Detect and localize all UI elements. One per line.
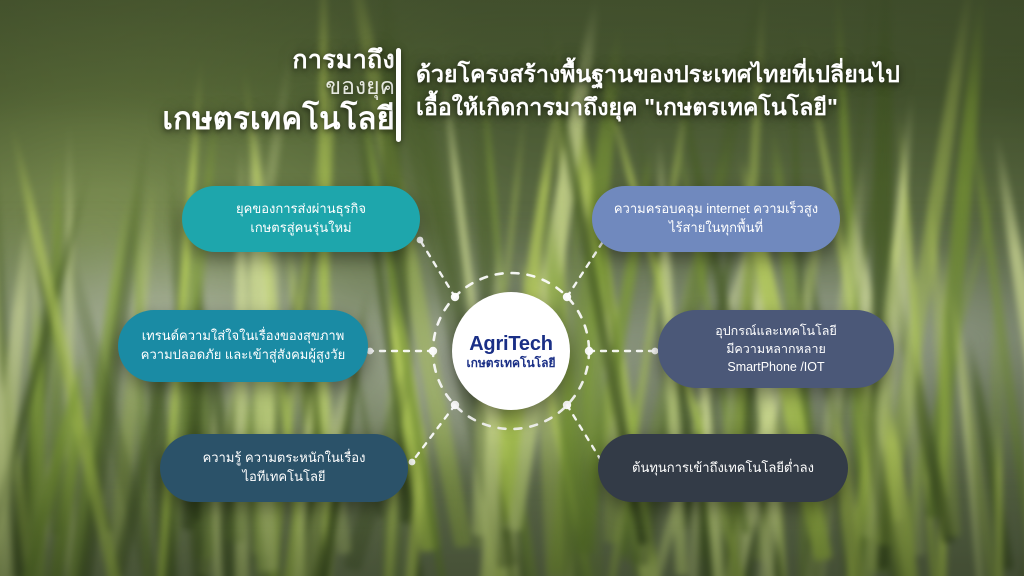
node-line: ไร้สายในทุกพื้นที่ [614,219,818,238]
ring-dot-middle-right [585,347,593,355]
radial-diagram: AgriTech เกษตรเทคโนโลยี ยุคของการส่งผ่าน… [0,0,1024,576]
node-top-right[interactable]: ความครอบคลุม internet ความเร็วสูง ไร้สาย… [592,186,840,252]
node-line: ความปลอดภัย และเข้าสู่สังคมผู้สูงวัย [141,346,345,365]
node-line: เกษตรสู่คนรุ่นใหม่ [236,219,366,238]
node-line: อุปกรณ์และเทคโนโลยี [715,322,837,340]
connector-bottom-right [567,405,602,462]
node-middle-right[interactable]: อุปกรณ์และเทคโนโลยี มีความหลากหลาย Smart… [658,310,894,388]
node-line: มีความหลากหลาย [715,340,837,358]
node-middle-left[interactable]: เทรนด์ความใส่ใจในเรื่องของสุขภาพ ความปลอ… [118,310,368,382]
node-bottom-right-text: ต้นทุนการเข้าถึงเทคโนโลยีต่ำลง [632,459,814,478]
node-line: ไอทีเทคโนโลยี [203,468,366,487]
node-top-left[interactable]: ยุคของการส่งผ่านธุรกิจ เกษตรสู่คนรุ่นใหม… [182,186,420,252]
infographic-slide: การมาถึง ของยุค เกษตรเทคโนโลยี ด้วยโครงส… [0,0,1024,576]
ring-dot-middle-left [429,347,437,355]
node-bottom-right[interactable]: ต้นทุนการเข้าถึงเทคโนโลยีต่ำลง [598,434,848,502]
connector-bottom-left [412,405,455,462]
node-line: ยุคของการส่งผ่านธุรกิจ [236,200,366,219]
hub-agritech[interactable]: AgriTech เกษตรเทคโนโลยี [452,292,570,410]
arrowhead-top-left [417,237,424,244]
arrowhead-bottom-left [409,459,416,466]
node-line: ความครอบคลุม internet ความเร็วสูง [614,200,818,219]
node-line: ต้นทุนการเข้าถึงเทคโนโลยีต่ำลง [632,459,814,478]
node-bottom-left-text: ความรู้ ความตระหนักในเรื่อง ไอทีเทคโนโลย… [203,449,366,487]
ring-dot-top-left [451,293,459,301]
node-top-right-text: ความครอบคลุม internet ความเร็วสูง ไร้สาย… [614,200,818,238]
hub-subtitle: เกษตรเทคโนโลยี [466,357,555,369]
connector-top-right [567,240,604,297]
node-line: เทรนด์ความใส่ใจในเรื่องของสุขภาพ [141,327,345,346]
node-line: SmartPhone /IOT [715,358,837,376]
node-bottom-left[interactable]: ความรู้ ความตระหนักในเรื่อง ไอทีเทคโนโลย… [160,434,408,502]
hub-title: AgriTech [469,334,553,354]
connector-lines [0,0,1024,576]
node-middle-right-text: อุปกรณ์และเทคโนโลยี มีความหลากหลาย Smart… [715,322,837,376]
ring-dot-bottom-right [563,401,571,409]
connector-top-left [420,240,455,297]
node-middle-left-text: เทรนด์ความใส่ใจในเรื่องของสุขภาพ ความปลอ… [141,327,345,365]
ring-dot-top-right [563,293,571,301]
node-top-left-text: ยุคของการส่งผ่านธุรกิจ เกษตรสู่คนรุ่นใหม… [236,200,366,238]
node-line: ความรู้ ความตระหนักในเรื่อง [203,449,366,468]
ring-dot-bottom-left [451,401,459,409]
